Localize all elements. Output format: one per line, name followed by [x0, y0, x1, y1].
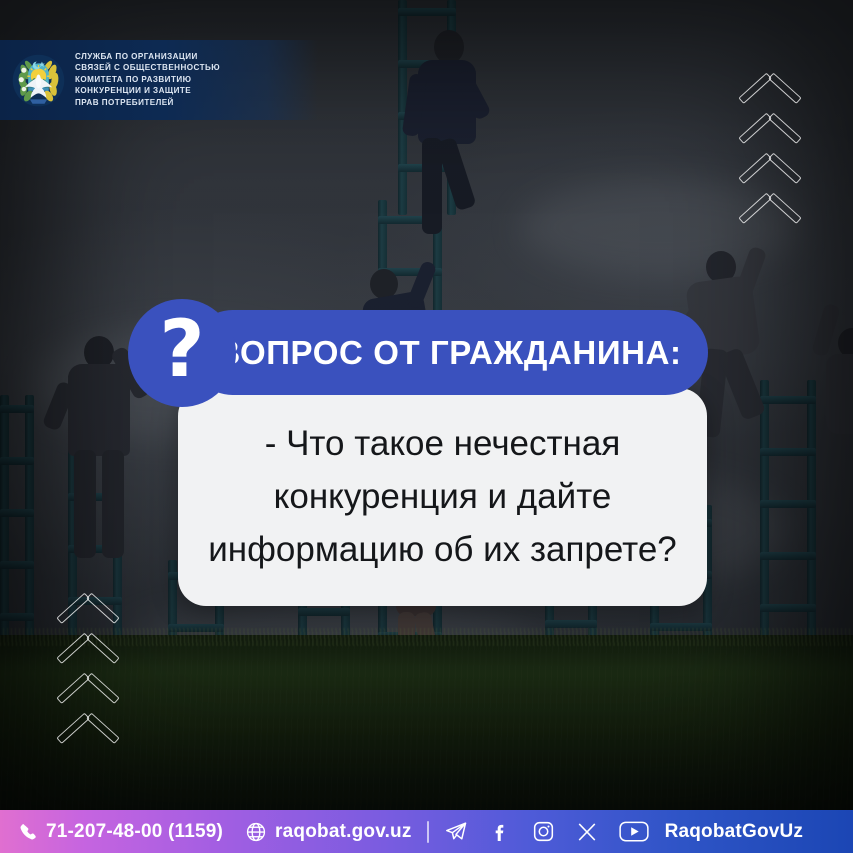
uzbekistan-state-emblem-icon	[11, 53, 66, 108]
footer-divider	[427, 821, 429, 843]
phone-number: 71-207-48-00 (1159)	[46, 821, 223, 843]
org-line-2: СВЯЗЕЙ С ОБЩЕСТВЕННОСТЬЮ	[75, 63, 220, 74]
chevron-decor-bottom-left	[60, 606, 116, 766]
chevron-up-icon	[742, 206, 798, 246]
org-line-1: СЛУЖБА ПО ОРГАНИЗАЦИИ	[75, 52, 220, 63]
globe-icon	[245, 821, 267, 843]
org-line-5: ПРАВ ПОТРЕБИТЕЛЕЙ	[75, 98, 220, 109]
social-media-graphic: СЛУЖБА ПО ОРГАНИЗАЦИИ СВЯЗЕЙ С ОБЩЕСТВЕН…	[0, 0, 853, 853]
question-banner-label: ВОПРОС ОТ ГРАЖДАНИНА:	[216, 334, 681, 372]
phone-icon	[18, 822, 38, 842]
website-contact[interactable]: raqobat.gov.uz	[245, 821, 412, 843]
x-twitter-icon[interactable]	[576, 821, 598, 843]
phone-contact[interactable]: 71-207-48-00 (1159)	[18, 821, 223, 843]
question-line-1: - Что такое нечестная	[265, 419, 621, 469]
contact-footer-bar: 71-207-48-00 (1159) raqobat.gov.uz	[0, 810, 853, 853]
question-line-3: информацию об их запрете?	[208, 525, 677, 575]
website-url: raqobat.gov.uz	[275, 821, 412, 843]
social-icon-row	[444, 820, 649, 844]
question-text-card: - Что такое нечестная конкуренция и дайт…	[178, 388, 707, 606]
social-handle[interactable]: RaqobatGovUz	[665, 821, 804, 843]
org-name-block: СЛУЖБА ПО ОРГАНИЗАЦИИ СВЯЗЕЙ С ОБЩЕСТВЕН…	[75, 52, 220, 109]
org-line-3: КОМИТЕТА ПО РАЗВИТИЮ	[75, 75, 220, 86]
org-header-banner: СЛУЖБА ПО ОРГАНИЗАЦИИ СВЯЗЕЙ С ОБЩЕСТВЕН…	[0, 40, 318, 120]
question-mark-icon: ?	[159, 311, 204, 389]
org-line-4: КОНКУРЕНЦИИ И ЗАЩИТЕ	[75, 86, 220, 97]
instagram-icon[interactable]	[532, 820, 555, 843]
chevron-decor-top-right	[742, 86, 798, 246]
question-banner: ВОПРОС ОТ ГРАЖДАНИНА:	[190, 310, 708, 395]
youtube-icon[interactable]	[619, 820, 649, 843]
telegram-icon[interactable]	[444, 820, 468, 844]
facebook-icon[interactable]	[489, 821, 511, 843]
question-mark-badge: ?	[128, 299, 236, 407]
question-line-2: конкуренция и дайте	[274, 472, 612, 522]
chevron-up-icon	[60, 726, 116, 766]
